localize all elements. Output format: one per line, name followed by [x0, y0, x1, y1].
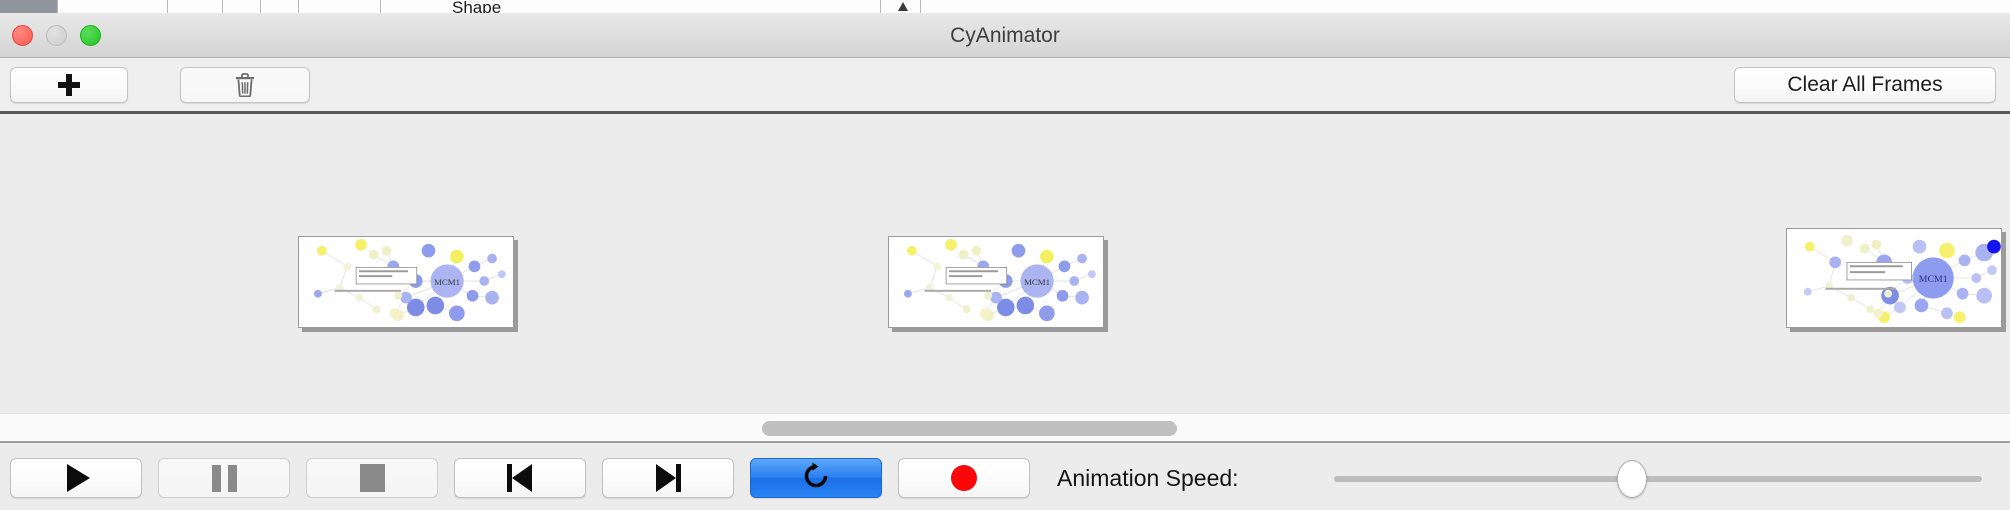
frame-thumbnail: MCM1 [299, 237, 513, 327]
animation-speed-label: Animation Speed: [1057, 458, 1239, 498]
clear-all-frames-button[interactable]: Clear All Frames [1734, 67, 1996, 103]
svg-text:MCM1: MCM1 [1024, 277, 1050, 287]
loop-icon [801, 461, 831, 496]
clear-all-frames-label: Clear All Frames [1787, 73, 1942, 97]
timeline-frame[interactable]: MCM1 [1786, 228, 2002, 328]
play-icon [67, 464, 90, 492]
pause-icon [212, 465, 237, 492]
play-button[interactable] [10, 458, 142, 498]
timeline-frame[interactable]: MCM1 [888, 236, 1104, 328]
first-frame-button[interactable] [454, 458, 586, 498]
record-icon [951, 465, 977, 491]
record-button[interactable] [898, 458, 1030, 498]
window-title: CyAnimator [0, 13, 2010, 58]
svg-text:MCM1: MCM1 [1919, 274, 1948, 285]
bg-segment [0, 0, 58, 13]
loop-button[interactable] [750, 458, 882, 498]
bg-segment [168, 0, 223, 13]
animation-speed-slider[interactable] [1334, 458, 1982, 498]
bg-window-label: Shape [452, 0, 501, 13]
bg-segment [921, 0, 2010, 13]
bg-segment [261, 0, 299, 13]
background-window-strip: Shape [0, 0, 2010, 13]
last-frame-button[interactable] [602, 458, 734, 498]
frame-thumbnail: MCM1 [889, 237, 1103, 327]
playback-bar: Animation Speed: [0, 445, 2010, 510]
frame-thumbnail: MCM1 [1787, 229, 2001, 327]
skip-back-icon [507, 464, 533, 492]
stop-button[interactable] [306, 458, 438, 498]
pause-button[interactable] [158, 458, 290, 498]
horizontal-scrollbar[interactable] [0, 413, 2010, 443]
slider-track [1334, 476, 1982, 482]
timeline-panel[interactable]: MCM1 [0, 114, 2010, 410]
toolbar: Clear All Frames [0, 58, 2010, 111]
svg-text:MCM1: MCM1 [434, 277, 460, 287]
bg-segment [223, 0, 261, 13]
stop-icon [360, 464, 385, 492]
bg-segment [299, 0, 381, 13]
timeline-frame[interactable]: MCM1 [298, 236, 514, 328]
trash-icon [235, 73, 255, 97]
scrollbar-thumb[interactable] [762, 421, 1177, 436]
title-bar: CyAnimator [0, 13, 2010, 58]
slider-thumb[interactable] [1617, 460, 1647, 498]
bg-sort-arrow-icon [898, 2, 908, 11]
bg-segment [58, 0, 168, 13]
plus-icon [58, 74, 80, 96]
add-frame-button[interactable] [10, 67, 128, 103]
delete-frame-button[interactable] [180, 67, 310, 103]
skip-forward-icon [655, 464, 681, 492]
